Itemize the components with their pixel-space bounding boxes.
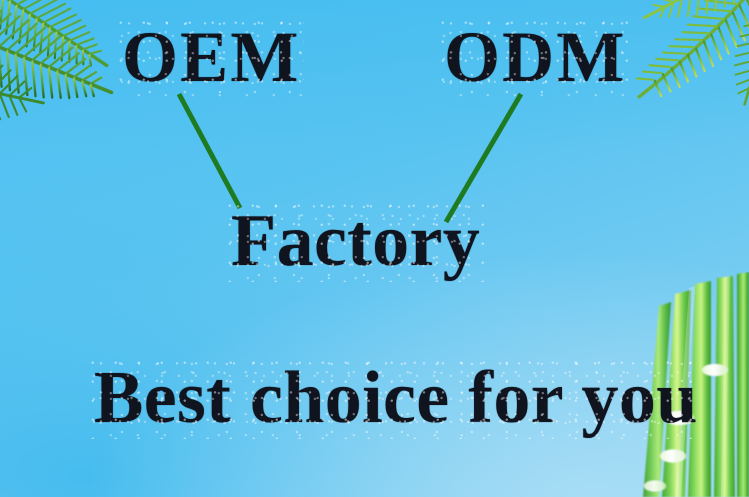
tagline: Best choice for you <box>94 361 698 435</box>
headline-odm: ODM <box>444 21 626 93</box>
connector-oem-to-factory <box>179 94 240 208</box>
headline-oem: OEM <box>122 21 300 93</box>
hub-label-factory: Factory <box>231 204 480 278</box>
promo-banner: OEM ODM Factory Best choice for you <box>0 0 749 497</box>
